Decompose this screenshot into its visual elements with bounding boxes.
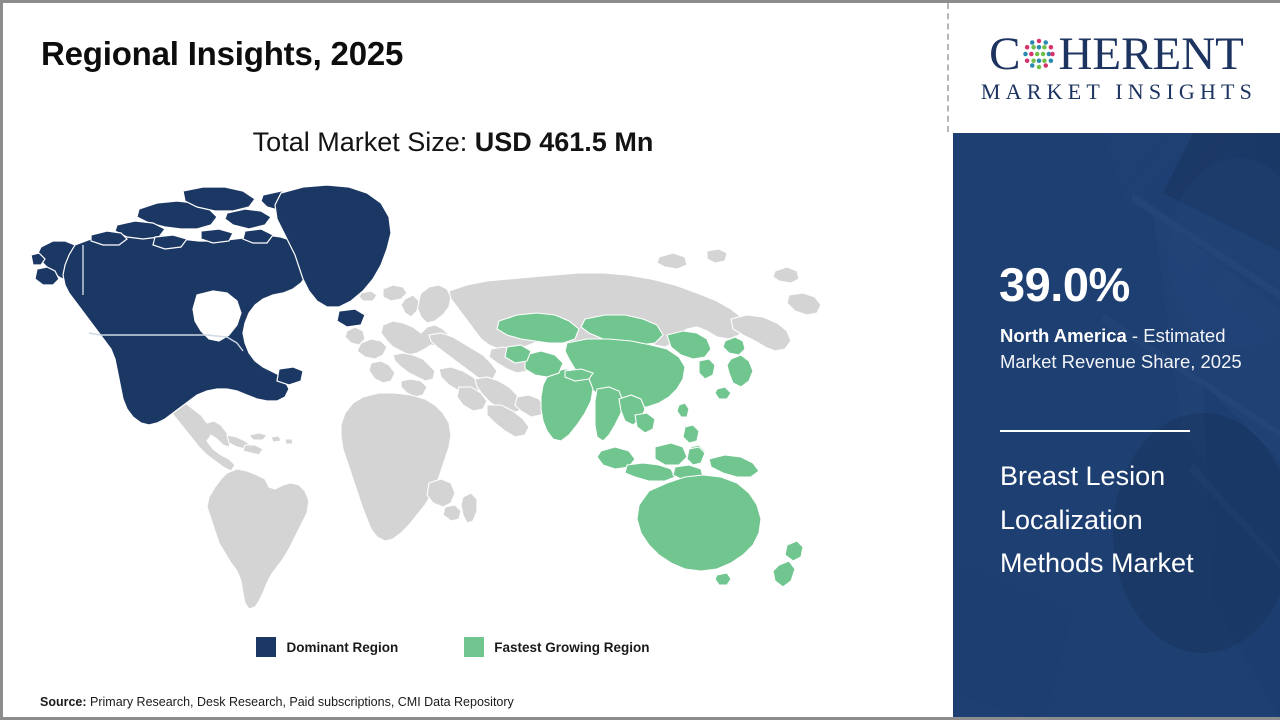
- panel-background-texture: [953, 133, 1280, 720]
- source-label: Source:: [40, 695, 87, 709]
- market-size-value: USD 461.5 Mn: [475, 127, 654, 157]
- world-map: [31, 183, 837, 623]
- market-size-prefix: Total Market Size:: [253, 127, 475, 157]
- legend-label-dominant: Dominant Region: [286, 640, 398, 655]
- logo-wordmark: C: [989, 31, 1244, 77]
- stat-description: North America - Estimated Market Revenue…: [1000, 323, 1268, 376]
- map-region-asia-pacific: [497, 313, 803, 587]
- market-name: Breast Lesion Localization Methods Marke…: [1000, 455, 1252, 586]
- stat-region-name: North America: [1000, 325, 1127, 346]
- stat-value: 39.0%: [999, 261, 1130, 308]
- legend-swatch-green: [464, 637, 484, 657]
- map-legend: Dominant Region Fastest Growing Region: [3, 637, 903, 657]
- source-note: Source: Primary Research, Desk Research,…: [40, 695, 514, 709]
- page-title: Regional Insights, 2025: [41, 35, 403, 73]
- logo-letter-c: C: [989, 31, 1020, 78]
- left-content-pane: Regional Insights, 2025 Total Market Siz…: [3, 3, 947, 717]
- vertical-dashed-divider: [947, 3, 949, 132]
- brand-logo: C: [953, 3, 1280, 133]
- legend-item-dominant: Dominant Region: [256, 637, 398, 657]
- stat-panel: 39.0% North America - Estimated Market R…: [953, 133, 1280, 720]
- legend-label-fastest-growing: Fastest Growing Region: [494, 640, 649, 655]
- globe-dots-icon: [1021, 36, 1057, 72]
- map-region-north-america: [31, 185, 391, 425]
- legend-item-fastest-growing: Fastest Growing Region: [464, 637, 649, 657]
- legend-swatch-navy: [256, 637, 276, 657]
- source-text: Primary Research, Desk Research, Paid su…: [87, 695, 514, 709]
- logo-word-rest: HERENT: [1058, 31, 1243, 78]
- panel-divider: [1000, 430, 1190, 432]
- infographic-root: Regional Insights, 2025 Total Market Siz…: [0, 0, 1280, 720]
- logo-subline: MARKET INSIGHTS: [976, 79, 1257, 105]
- total-market-size: Total Market Size: USD 461.5 Mn: [3, 127, 903, 158]
